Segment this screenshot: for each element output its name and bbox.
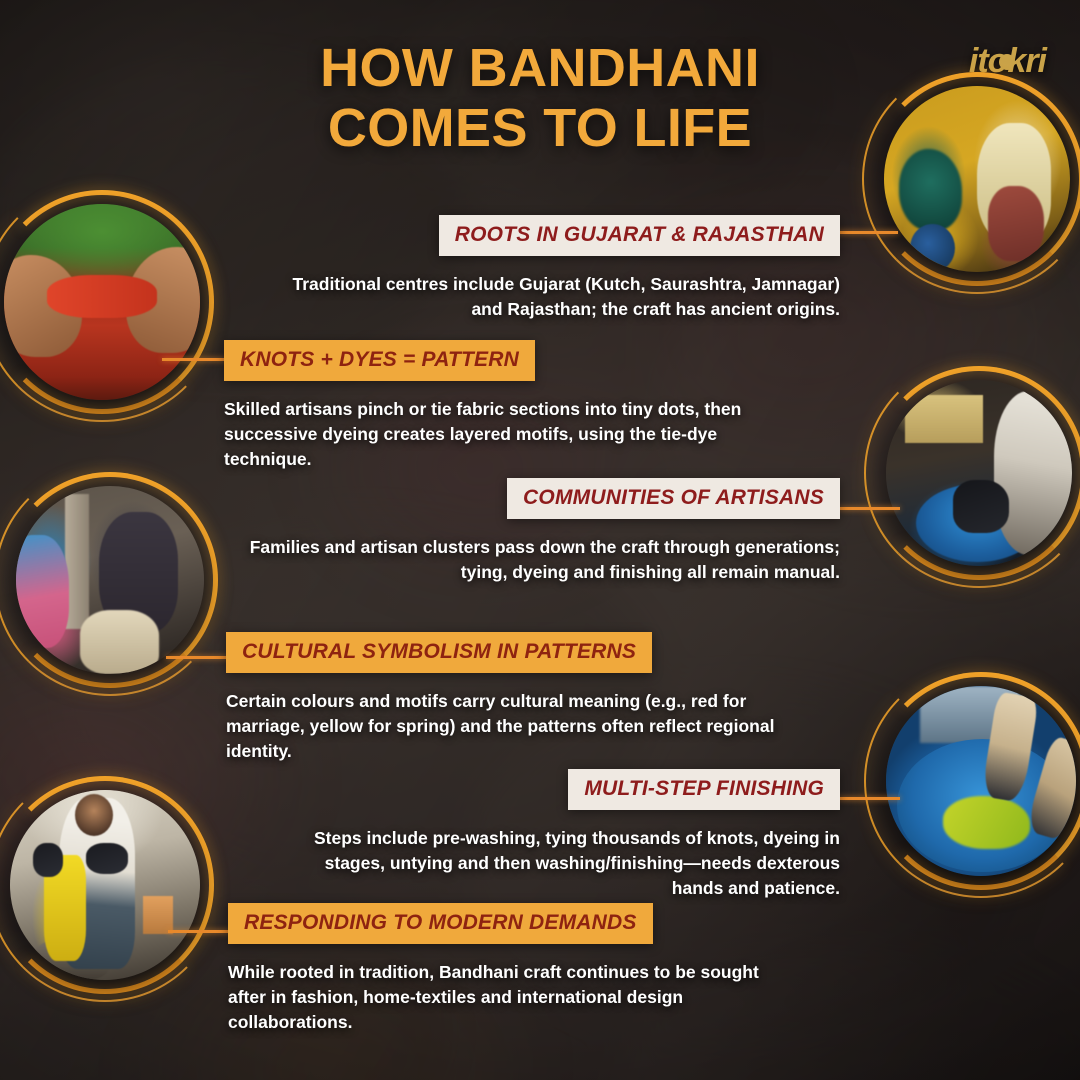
section-body-knots: Skilled artisans pinch or tie fabric sec…	[224, 397, 756, 472]
photo-frame	[884, 86, 1070, 272]
section-header-modern: RESPONDING TO MODERN DEMANDS	[228, 903, 653, 944]
connector-line-finishing	[838, 797, 900, 800]
section-body-finishing: Steps include pre-washing, tying thousan…	[300, 826, 840, 901]
section-communities: COMMUNITIES OF ARTISANS Families and art…	[240, 478, 840, 585]
photo-women-tying-yellow-wall	[884, 86, 1070, 272]
title-line-1: HOW BANDHANI	[320, 38, 760, 98]
photo-frame	[10, 790, 200, 980]
section-header-symbolism: CULTURAL SYMBOLISM IN PATTERNS	[226, 632, 652, 673]
connector-line-roots	[836, 231, 898, 234]
connector-line-symbolism	[166, 656, 228, 659]
photo-fabric-in-blue-dye	[886, 686, 1076, 876]
section-header-knots: KNOTS + DYES = PATTERN	[224, 340, 535, 381]
section-body-modern: While rooted in tradition, Bandhani craf…	[228, 960, 788, 1035]
photo-frame	[886, 686, 1076, 876]
section-header-roots: ROOTS IN GUJARAT & RAJASTHAN	[439, 215, 840, 256]
photo-hands-tying-red-cloth	[4, 204, 200, 400]
photo-dyer-blue-tub	[886, 380, 1072, 566]
connector-line-knots	[162, 358, 226, 361]
section-modern: RESPONDING TO MODERN DEMANDS While roote…	[228, 903, 788, 1035]
connector-line-modern	[168, 930, 230, 933]
section-body-communities: Families and artisan clusters pass down …	[240, 535, 840, 585]
section-header-communities: COMMUNITIES OF ARTISANS	[507, 478, 840, 519]
section-header-finishing: MULTI-STEP FINISHING	[568, 769, 840, 810]
photo-man-lifting-yellow-cloth	[10, 790, 200, 980]
section-body-symbolism: Certain colours and motifs carry cultura…	[226, 689, 786, 764]
photo-frame	[4, 204, 200, 400]
photo-women-seated-tying	[16, 486, 204, 674]
section-body-roots: Traditional centres include Gujarat (Kut…	[280, 272, 840, 322]
section-symbolism: CULTURAL SYMBOLISM IN PATTERNS Certain c…	[226, 632, 786, 764]
photo-frame	[886, 380, 1072, 566]
section-roots: ROOTS IN GUJARAT & RAJASTHAN Traditional…	[280, 215, 840, 322]
section-finishing: MULTI-STEP FINISHING Steps include pre-w…	[300, 769, 840, 901]
photo-frame	[16, 486, 204, 674]
section-knots: KNOTS + DYES = PATTERN Skilled artisans …	[224, 340, 756, 472]
connector-line-communities	[838, 507, 900, 510]
